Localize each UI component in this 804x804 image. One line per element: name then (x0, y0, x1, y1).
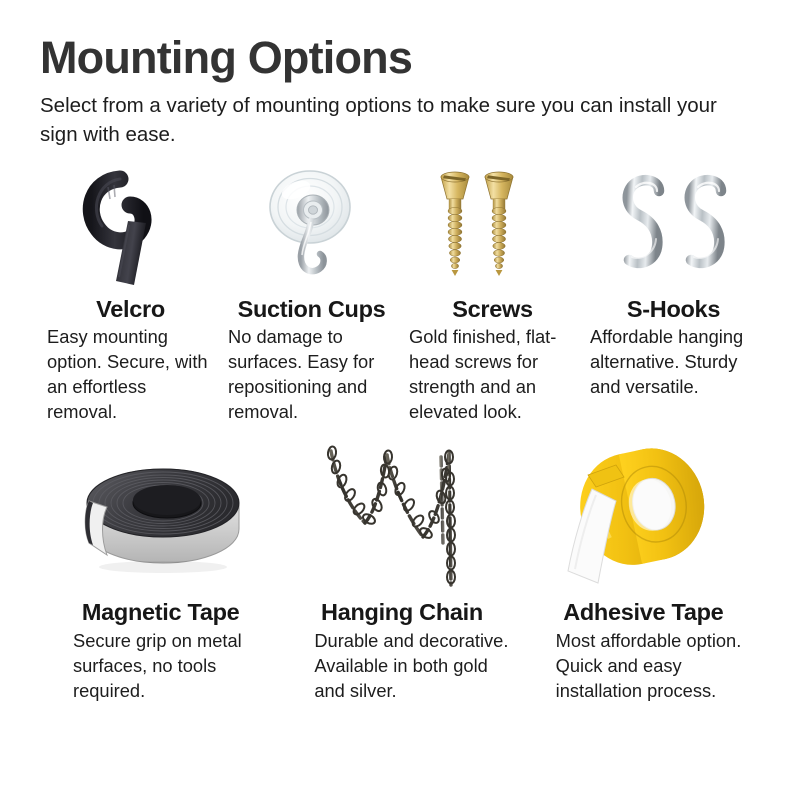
option-title: Magnetic Tape (82, 599, 240, 626)
option-card-velcro[interactable]: Velcro Easy mounting option. Secure, wit… (40, 165, 221, 425)
option-description: Gold finished, flat-head screws for stre… (405, 325, 580, 425)
mounting-options-row-2: Magnetic Tape Secure grip on metal surfa… (40, 443, 764, 704)
option-title: Velcro (96, 296, 165, 323)
option-description: No damage to surfaces. Easy for repositi… (224, 325, 399, 425)
page-title: Mounting Options (40, 34, 764, 81)
magnetic-tape-thumb (43, 443, 278, 593)
option-card-s-hooks[interactable]: S-Hooks Affordable hanging alternative. … (583, 165, 764, 425)
option-title: S-Hooks (627, 296, 720, 323)
option-description: Most affordable option. Quick and easy i… (526, 629, 761, 704)
suction-cups-thumb (224, 165, 399, 290)
gold-flat-head-screws-image (437, 165, 549, 290)
option-card-screws[interactable]: Screws Gold finished, flat-head screws f… (402, 165, 583, 425)
option-title: Hanging Chain (321, 599, 483, 626)
hanging-chain-thumb-cell[interactable]: Hanging Chain Durable and decorative. Av… (281, 443, 522, 704)
option-title: Screws (452, 296, 533, 323)
s-hooks-image (611, 165, 737, 290)
option-description: Affordable hanging alternative. Sturdy a… (586, 325, 761, 400)
option-description: Easy mounting option. Secure, with an ef… (43, 325, 218, 425)
option-card-magnetic-tape[interactable]: Magnetic Tape Secure grip on metal surfa… (40, 443, 281, 704)
magnetic-tape-roll-image (71, 443, 251, 593)
velcro-strap-image (76, 165, 186, 290)
velcro-thumb (43, 165, 218, 290)
option-title: Adhesive Tape (563, 599, 723, 626)
option-card-suction-cups[interactable]: Suction Cups No damage to surfaces. Easy… (221, 165, 402, 425)
screws-thumb (405, 165, 580, 290)
adhesive-tape-thumb (526, 443, 761, 593)
page-subtitle: Select from a variety of mounting option… (40, 91, 730, 149)
option-title: Suction Cups (238, 296, 386, 323)
hanging-chain-thumb (284, 443, 519, 593)
option-description: Durable and decorative. Available in bot… (284, 629, 519, 704)
option-description: Secure grip on metal surfaces, no tools … (43, 629, 278, 704)
adhesive-tape-roll-image (558, 443, 728, 593)
mounting-options-panel: Mounting Options Select from a variety o… (0, 0, 804, 804)
option-card-adhesive-tape[interactable]: Adhesive Tape Most affordable option. Qu… (523, 443, 764, 704)
s-hooks-thumb (586, 165, 761, 290)
suction-cup-hook-image (256, 165, 368, 290)
hanging-chain-image (317, 443, 487, 593)
mounting-options-row-1: Velcro Easy mounting option. Secure, wit… (40, 165, 764, 425)
